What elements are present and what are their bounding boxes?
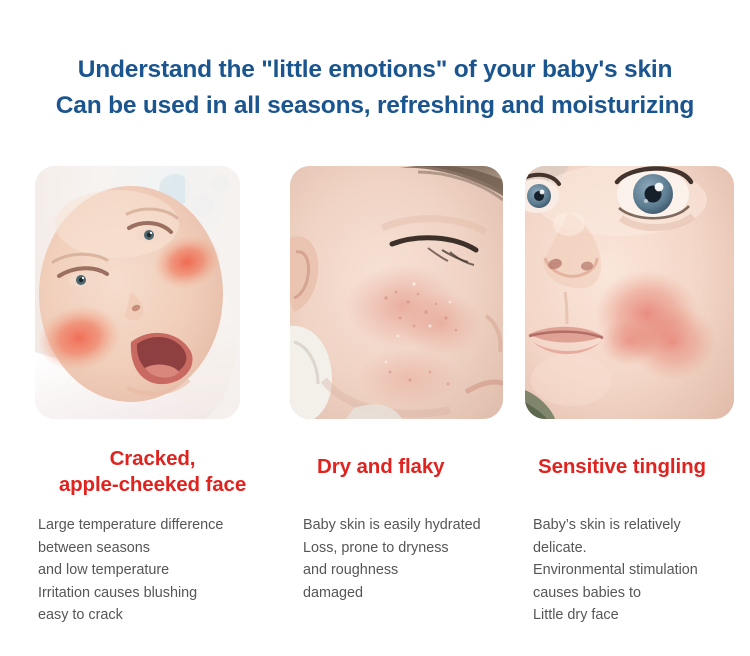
baby-photo-dry-flaky-skin: [290, 166, 503, 419]
card-title: Dry and flaky: [317, 454, 444, 480]
card-title-line: Sensitive tingling: [538, 454, 706, 480]
card-body-line: causes babies to: [533, 582, 698, 605]
crying-baby-red-cheeks-illustration: [35, 166, 240, 419]
card-body-line: Irritation causes blushing: [38, 582, 223, 605]
card-title: Sensitive tingling: [538, 454, 706, 480]
card-body-line: Baby skin is easily hydrated: [303, 514, 481, 537]
symptom-card: Sensitive tingling Baby’s skin is relati…: [525, 166, 750, 419]
symptom-card: Cracked, apple-cheeked face Large temper…: [35, 166, 260, 419]
card-title-line: Dry and flaky: [317, 454, 444, 480]
headline-line-1: Understand the "little emotions" of your…: [0, 52, 750, 88]
card-body-line: damaged: [303, 582, 481, 605]
symptom-card-row: Cracked, apple-cheeked face Large temper…: [0, 166, 750, 419]
baby-cheek-closeup-illustration: [290, 166, 503, 419]
card-body: Large temperature difference between sea…: [38, 514, 223, 627]
card-body-line: easy to crack: [38, 604, 223, 627]
card-body-line: Little dry face: [533, 604, 698, 627]
card-body-line: Large temperature difference: [38, 514, 223, 537]
baby-face-sensitive-cheek-illustration: [525, 166, 734, 419]
card-body: Baby skin is easily hydrated Loss, prone…: [303, 514, 481, 604]
headline-line-2: Can be used in all seasons, refreshing a…: [0, 88, 750, 124]
page-headline: Understand the "little emotions" of your…: [0, 52, 750, 124]
card-title-line: Cracked,: [35, 446, 270, 472]
card-title-line: apple-cheeked face: [35, 472, 270, 498]
card-body-line: and roughness: [303, 559, 481, 582]
card-body-line: Baby’s skin is relatively: [533, 514, 698, 537]
card-body: Baby’s skin is relatively delicate. Envi…: [533, 514, 698, 627]
baby-photo-sensitive-red-cheek: [525, 166, 734, 419]
card-body-line: and low temperature: [38, 559, 223, 582]
card-title: Cracked, apple-cheeked face: [35, 446, 270, 498]
card-body-line: delicate.: [533, 537, 698, 560]
symptom-card: Dry and flaky Baby skin is easily hydrat…: [290, 166, 515, 419]
card-body-line: Environmental stimulation: [533, 559, 698, 582]
card-body-line: between seasons: [38, 537, 223, 560]
baby-photo-cracked-cheeks: [35, 166, 240, 419]
card-body-line: Loss, prone to dryness: [303, 537, 481, 560]
